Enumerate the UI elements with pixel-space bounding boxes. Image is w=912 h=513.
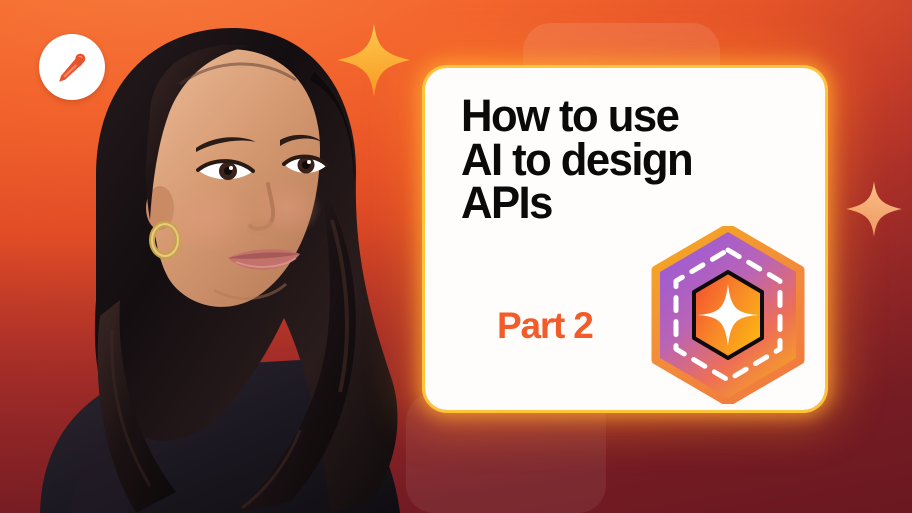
video-thumbnail: How to use AI to design APIs Part 2 (0, 0, 912, 513)
title-card: How to use AI to design APIs Part 2 (425, 68, 825, 410)
hexagon-sparkle-badge-icon (646, 226, 810, 404)
page-title: How to use AI to design APIs (461, 94, 795, 225)
postman-logo-icon (39, 34, 105, 100)
part-label: Part 2 (497, 307, 593, 344)
